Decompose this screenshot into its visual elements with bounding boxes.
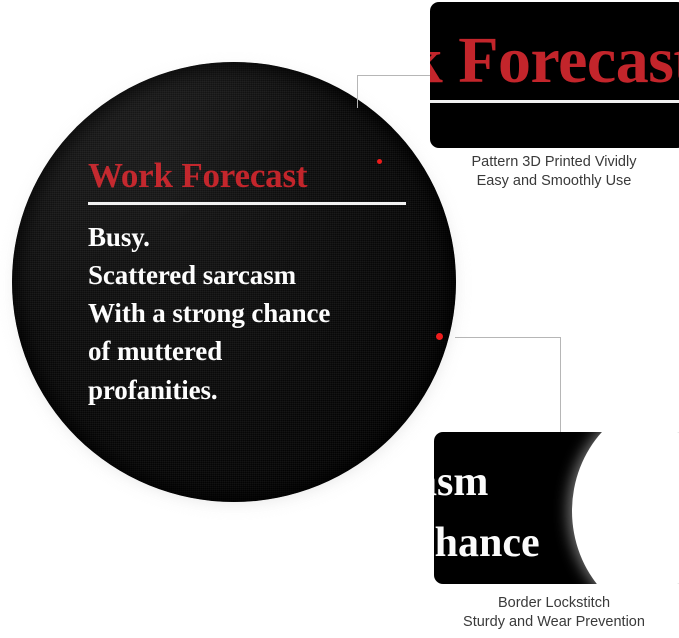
magnified-divider-rule <box>430 100 679 103</box>
detail-marker-dot-icon <box>436 333 443 340</box>
caption-line: Sturdy and Wear Prevention <box>428 613 679 632</box>
magnified-title-text: k Forecast <box>430 28 679 94</box>
caption-line: Easy and Smoothly Use <box>428 172 679 191</box>
magnified-text-line: chance <box>434 513 540 574</box>
caption-print-quality: Pattern 3D Printed Vividly Easy and Smoo… <box>428 153 679 190</box>
callout-leader-line-top <box>357 75 358 108</box>
detail-panel-print-quality: k Forecast <box>430 2 679 148</box>
callout-leader-line-bottom <box>560 337 561 433</box>
patch-divider-rule <box>88 202 406 205</box>
magnified-body-text: asm chance <box>434 452 540 574</box>
patch-text-line: profanities. <box>88 371 408 409</box>
patch-text-line: of muttered <box>88 332 408 370</box>
patch-title: Work Forecast <box>88 158 408 193</box>
caption-border-lockstitch: Border Lockstitch Sturdy and Wear Preven… <box>428 594 679 631</box>
patch-disc: Work Forecast Busy. Scattered sarcasm Wi… <box>12 62 456 502</box>
patch-text-line: Busy. <box>88 218 408 256</box>
caption-line: Pattern 3D Printed Vividly <box>428 153 679 172</box>
detail-panel-border-lockstitch: asm chance <box>434 432 679 584</box>
patch-printed-artwork: Work Forecast Busy. Scattered sarcasm Wi… <box>88 158 408 409</box>
magnified-text-line: asm <box>434 452 540 513</box>
patch-text-line: With a strong chance <box>88 294 408 332</box>
caption-line: Border Lockstitch <box>428 594 679 613</box>
product-patch: Work Forecast Busy. Scattered sarcasm Wi… <box>12 62 456 502</box>
magnified-lockstitch-border <box>572 432 679 584</box>
red-speck-icon <box>377 159 382 164</box>
patch-definition-text: Busy. Scattered sarcasm With a strong ch… <box>88 218 408 410</box>
callout-leader-line-top <box>357 75 433 76</box>
patch-text-line: Scattered sarcasm <box>88 256 408 294</box>
callout-leader-line-bottom <box>455 337 561 338</box>
